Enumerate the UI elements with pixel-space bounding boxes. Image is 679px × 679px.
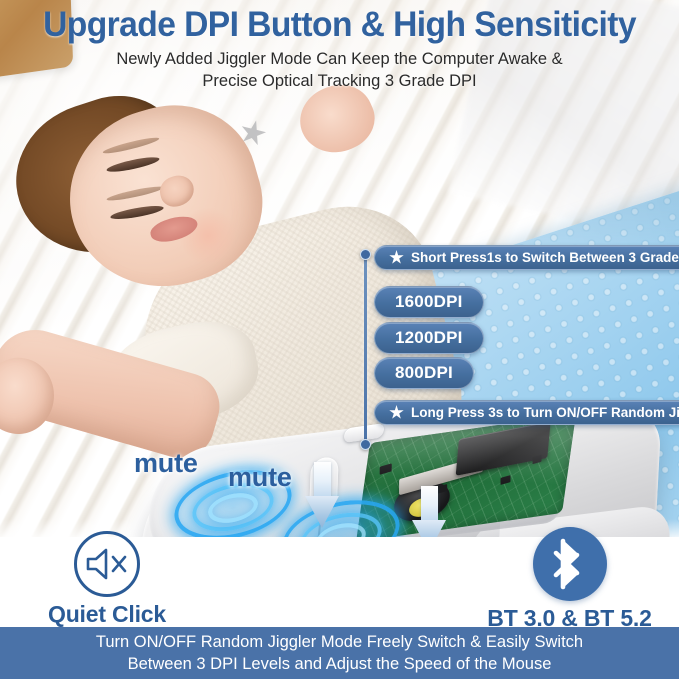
callout-long-press-label: Long Press 3s to Turn ON/OFF Random Jigg… [411, 405, 679, 420]
dpi-1200-label: 1200DPI [395, 328, 463, 348]
callout-dpi-800: 800DPI [374, 357, 474, 389]
star-icon [389, 405, 404, 420]
callout-dpi-1200: 1200DPI [374, 322, 484, 354]
page-subtitle: Newly Added Jiggler Mode Can Keep the Co… [0, 49, 679, 93]
bluetooth-glyph [550, 538, 590, 590]
header: Upgrade DPI Button & High Sensiticity Ne… [0, 0, 679, 93]
arrow-shaft [314, 462, 331, 500]
arrow-head [305, 496, 339, 528]
page-title: Upgrade DPI Button & High Sensiticity [14, 0, 666, 42]
mute-label-right: mute [228, 462, 292, 493]
dpi-1600-label: 1600DPI [395, 292, 463, 312]
feature-quiet-click: Quiet Click [22, 531, 192, 628]
callout-short-press: Short Press1s to Switch Between 3 Grade … [374, 245, 679, 270]
callout-short-press-label: Short Press1s to Switch Between 3 Grade … [411, 250, 679, 265]
bluetooth-icon [533, 527, 607, 601]
down-arrow-icon [305, 462, 339, 528]
arrow-shaft [421, 486, 438, 524]
callout-long-press: Long Press 3s to Turn ON/OFF Random Jigg… [374, 400, 679, 425]
mute-label-left: mute [134, 448, 198, 479]
banner-line-1: Turn ON/OFF Random Jiggler Mode Freely S… [96, 631, 583, 653]
dpi-800-label: 800DPI [395, 363, 453, 383]
feature-bluetooth: BT 3.0 & BT 5.2 [472, 527, 667, 632]
star-icon [389, 250, 404, 265]
leader-dot-bottom [360, 439, 371, 450]
bottom-banner: Turn ON/OFF Random Jiggler Mode Freely S… [0, 627, 679, 679]
callout-dpi-1600: 1600DPI [374, 286, 484, 318]
feature-quiet-click-label: Quiet Click [22, 601, 192, 628]
banner-line-2: Between 3 DPI Levels and Adjust the Spee… [128, 653, 552, 675]
callout-leader-line [364, 252, 367, 444]
subtitle-line-1: Newly Added Jiggler Mode Can Keep the Co… [0, 49, 679, 71]
leader-dot-top [360, 249, 371, 260]
mute-speaker-icon [74, 531, 140, 597]
product-feature-image: Upgrade DPI Button & High Sensiticity Ne… [0, 0, 679, 679]
subtitle-line-2: Precise Optical Tracking 3 Grade DPI [0, 71, 679, 93]
mute-speaker-glyph [85, 547, 129, 581]
